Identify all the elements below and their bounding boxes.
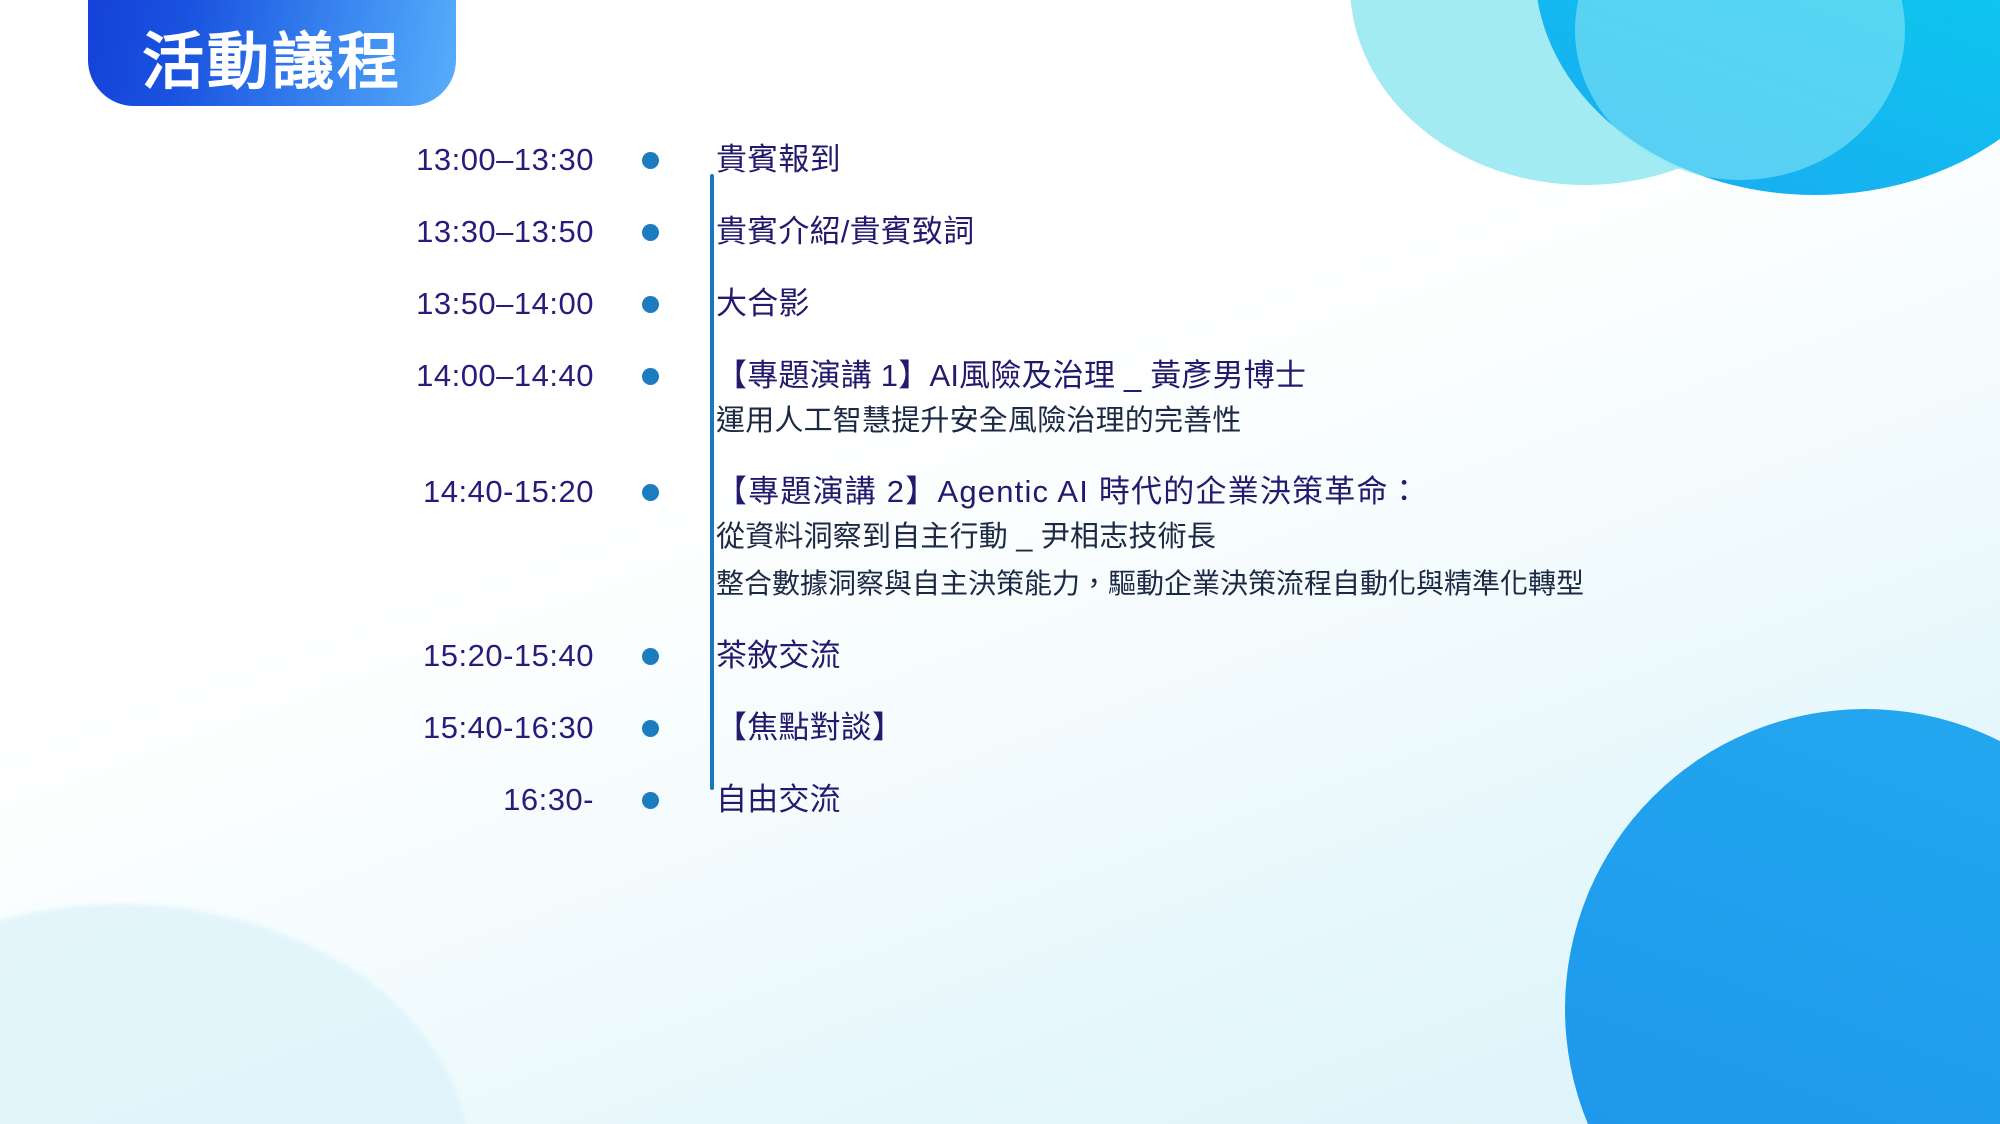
agenda-time: 13:00–13:30 (0, 138, 650, 182)
agenda-title: 自由交流 (716, 778, 2000, 822)
timeline-dot-cell (650, 138, 690, 182)
agenda-slide: 活動議程 13:00–13:30 貴賓報到 13:30–13:50 貴賓介紹/貴… (0, 0, 2000, 1124)
agenda-body: 貴賓介紹/貴賓致詞 (690, 210, 2000, 254)
agenda-body: 【專題演講 2】Agentic AI 時代的企業決策革命： 從資料洞察到自主行動… (690, 470, 2000, 608)
timeline-dot-icon (642, 224, 659, 241)
agenda-row: 13:50–14:00 大合影 (0, 282, 2000, 328)
agenda-time: 14:00–14:40 (0, 354, 650, 398)
timeline-dot-cell (650, 778, 690, 822)
agenda-row: 13:30–13:50 貴賓介紹/貴賓致詞 (0, 210, 2000, 256)
agenda-title: 【專題演講 1】AI風險及治理 _ 黃彥男博士 (716, 354, 2000, 398)
agenda-row: 14:00–14:40 【專題演講 1】AI風險及治理 _ 黃彥男博士 運用人工… (0, 354, 2000, 444)
timeline-dot-cell (650, 210, 690, 254)
agenda-body: 【專題演講 1】AI風險及治理 _ 黃彥男博士 運用人工智慧提升安全風險治理的完… (690, 354, 2000, 444)
agenda-body: 【焦點對談】 (690, 706, 2000, 750)
timeline-dot-icon (642, 152, 659, 169)
timeline-dot-icon (642, 792, 659, 809)
timeline-dot-icon (642, 648, 659, 665)
timeline-dot-icon (642, 484, 659, 501)
page-title: 活動議程 (142, 32, 402, 94)
agenda-row: 13:00–13:30 貴賓報到 (0, 138, 2000, 184)
agenda-subtitle: 運用人工智慧提升安全風險治理的完善性 (716, 398, 2000, 444)
agenda-row: 16:30- 自由交流 (0, 778, 2000, 824)
timeline-dot-cell (650, 634, 690, 678)
agenda-title: 貴賓報到 (716, 138, 2000, 182)
agenda-time: 15:20-15:40 (0, 634, 650, 678)
agenda-row: 14:40-15:20 【專題演講 2】Agentic AI 時代的企業決策革命… (0, 470, 2000, 608)
agenda-row: 15:20-15:40 茶敘交流 (0, 634, 2000, 680)
decorative-shape-bottom-left (0, 904, 470, 1124)
timeline-dot-cell (650, 354, 690, 398)
timeline-dot-icon (642, 296, 659, 313)
agenda-time: 15:40-16:30 (0, 706, 650, 750)
agenda-time: 14:40-15:20 (0, 470, 650, 514)
timeline-dot-cell (650, 470, 690, 514)
agenda-body: 自由交流 (690, 778, 2000, 822)
agenda-note: 整合數據洞察與自主決策能力，驅動企業決策流程自動化與精準化轉型 (716, 560, 2000, 608)
agenda-body: 貴賓報到 (690, 138, 2000, 182)
agenda-time: 16:30- (0, 778, 650, 822)
agenda-time: 13:30–13:50 (0, 210, 650, 254)
agenda-subtitle: 從資料洞察到自主行動 _ 尹相志技術長 (716, 514, 2000, 560)
agenda-timeline: 13:00–13:30 貴賓報到 13:30–13:50 貴賓介紹/貴賓致詞 1… (0, 138, 2000, 824)
page-title-badge: 活動議程 (88, 0, 456, 106)
agenda-row: 15:40-16:30 【焦點對談】 (0, 706, 2000, 752)
agenda-title: 茶敘交流 (716, 634, 2000, 678)
timeline-dot-cell (650, 282, 690, 326)
agenda-title: 【焦點對談】 (716, 706, 2000, 750)
agenda-time: 13:50–14:00 (0, 282, 650, 326)
agenda-body: 茶敘交流 (690, 634, 2000, 678)
agenda-rows: 13:00–13:30 貴賓報到 13:30–13:50 貴賓介紹/貴賓致詞 1… (0, 138, 2000, 824)
agenda-title: 大合影 (716, 282, 2000, 326)
timeline-dot-icon (642, 720, 659, 737)
agenda-title: 【專題演講 2】Agentic AI 時代的企業決策革命： (716, 470, 2000, 514)
agenda-body: 大合影 (690, 282, 2000, 326)
timeline-dot-cell (650, 706, 690, 750)
timeline-dot-icon (642, 368, 659, 385)
agenda-title: 貴賓介紹/貴賓致詞 (716, 210, 2000, 254)
